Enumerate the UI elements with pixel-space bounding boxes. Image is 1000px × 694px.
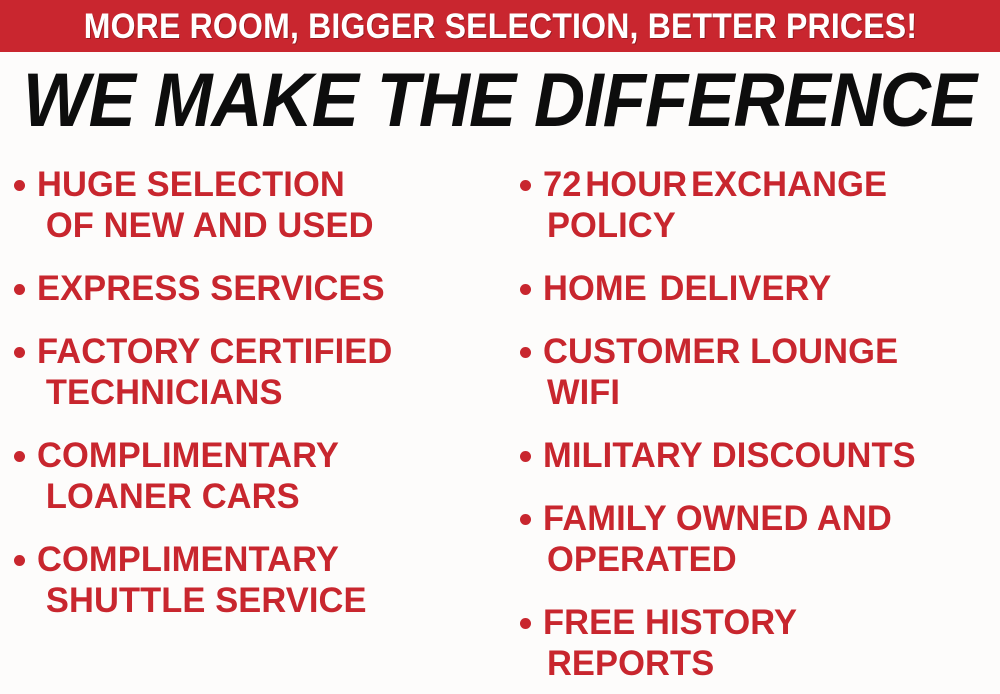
promo-banner: MORE ROOM, BIGGER SELECTION, BETTER PRIC… bbox=[0, 0, 1000, 52]
bullet-dot-icon bbox=[520, 514, 531, 525]
list-item: COMPLIMENTARY SHUTTLE SERVICE bbox=[14, 539, 500, 621]
features-column-right: 72 HOUR EXCHANGE POLICY HOME DELIVERY CU… bbox=[500, 150, 1000, 694]
page-title: WE MAKE THE DIFFERENCE bbox=[23, 63, 976, 139]
feature-text: COMPLIMENTARY LOANER CARS bbox=[37, 435, 339, 517]
bullet-dot-icon bbox=[520, 347, 531, 358]
list-item: HOME DELIVERY bbox=[520, 268, 1000, 309]
feature-line-1: FREE HISTORY bbox=[543, 603, 797, 642]
list-item: MILITARY DISCOUNTS bbox=[520, 435, 1000, 476]
feature-line-1: COMPLIMENTARY bbox=[37, 436, 339, 475]
feature-line-2: LOANER CARS bbox=[37, 476, 339, 517]
features-column-left: HUGE SELECTION OF NEW AND USED EXPRESS S… bbox=[0, 150, 500, 694]
bullet-dot-icon bbox=[14, 555, 25, 566]
feature-line-1: FACTORY CERTIFIED bbox=[37, 332, 392, 371]
bullet-dot-icon bbox=[14, 451, 25, 462]
feature-line-1: HOME DELIVERY bbox=[543, 269, 831, 308]
list-item: CUSTOMER LOUNGE WIFI bbox=[520, 331, 1000, 413]
feature-text: COMPLIMENTARY SHUTTLE SERVICE bbox=[37, 539, 367, 621]
feature-line-1: HUGE SELECTION bbox=[37, 165, 345, 204]
list-item: FREE HISTORY REPORTS bbox=[520, 602, 1000, 684]
promo-banner-text: MORE ROOM, BIGGER SELECTION, BETTER PRIC… bbox=[83, 9, 916, 44]
feature-text: FACTORY CERTIFIED TECHNICIANS bbox=[37, 331, 392, 413]
feature-text: FREE HISTORY REPORTS bbox=[543, 602, 797, 684]
feature-text: HOME DELIVERY bbox=[543, 268, 831, 309]
feature-line-1: EXPRESS SERVICES bbox=[37, 269, 385, 308]
list-item: FACTORY CERTIFIED TECHNICIANS bbox=[14, 331, 500, 413]
feature-text: EXPRESS SERVICES bbox=[37, 268, 385, 309]
feature-line-1: COMPLIMENTARY bbox=[37, 540, 339, 579]
bullet-dot-icon bbox=[520, 618, 531, 629]
feature-text: MILITARY DISCOUNTS bbox=[543, 435, 916, 476]
bullet-dot-icon bbox=[520, 180, 531, 191]
feature-text: 72 HOUR EXCHANGE POLICY bbox=[543, 164, 887, 246]
list-item: HUGE SELECTION OF NEW AND USED bbox=[14, 164, 500, 246]
feature-line-2: WIFI bbox=[543, 372, 898, 413]
bullet-dot-icon bbox=[14, 284, 25, 295]
headline-container: WE MAKE THE DIFFERENCE bbox=[0, 62, 1000, 140]
feature-line-2: POLICY bbox=[543, 205, 887, 246]
list-item: COMPLIMENTARY LOANER CARS bbox=[14, 435, 500, 517]
feature-line-2: SHUTTLE SERVICE bbox=[37, 580, 367, 621]
bullet-dot-icon bbox=[520, 284, 531, 295]
feature-text: CUSTOMER LOUNGE WIFI bbox=[543, 331, 898, 413]
bullet-dot-icon bbox=[520, 451, 531, 462]
feature-line-2: TECHNICIANS bbox=[37, 372, 392, 413]
list-item: FAMILY OWNED AND OPERATED bbox=[520, 498, 1000, 580]
bullet-dot-icon bbox=[14, 180, 25, 191]
feature-line-2: OPERATED bbox=[543, 539, 892, 580]
feature-text: HUGE SELECTION OF NEW AND USED bbox=[37, 164, 374, 246]
feature-text: FAMILY OWNED AND OPERATED bbox=[543, 498, 892, 580]
feature-line-1: 72 HOUR EXCHANGE bbox=[543, 165, 887, 204]
feature-line-1: MILITARY DISCOUNTS bbox=[543, 436, 916, 475]
feature-line-1: FAMILY OWNED AND bbox=[543, 499, 892, 538]
list-item: 72 HOUR EXCHANGE POLICY bbox=[520, 164, 1000, 246]
features-columns: HUGE SELECTION OF NEW AND USED EXPRESS S… bbox=[0, 150, 1000, 694]
feature-line-2: REPORTS bbox=[543, 643, 797, 684]
list-item: EXPRESS SERVICES bbox=[14, 268, 500, 309]
bullet-dot-icon bbox=[14, 347, 25, 358]
feature-line-1: CUSTOMER LOUNGE bbox=[543, 332, 898, 371]
feature-line-2: OF NEW AND USED bbox=[37, 205, 374, 246]
